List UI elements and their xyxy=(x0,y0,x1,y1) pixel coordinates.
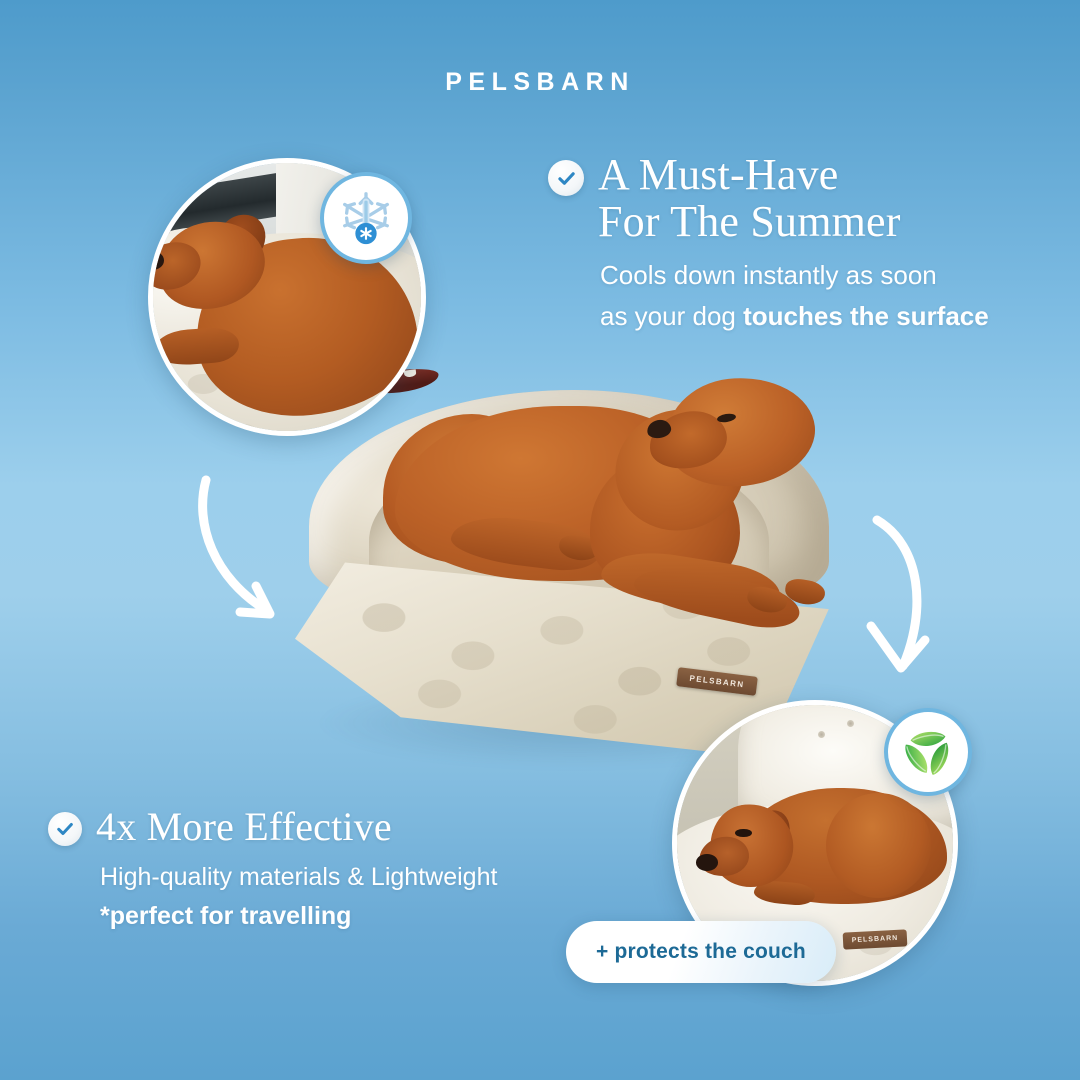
arrow-down-left-icon xyxy=(855,500,985,690)
protects-couch-badge: + protects the couch xyxy=(566,921,836,983)
feature-subtext-effective: High-quality materials & Lightweight *pe… xyxy=(100,858,648,936)
check-circle-icon xyxy=(48,812,82,846)
dog-illustration-main xyxy=(365,370,835,670)
ad-canvas: PELSBARN xyxy=(0,0,1080,1080)
feature-subtext-line-2: as your dog touches the surface xyxy=(600,296,1048,336)
feature-heading-row: A Must-Have For The Summer xyxy=(548,152,1048,245)
feature-subtext-bold: touches the surface xyxy=(743,301,989,331)
feature-title-line-2: For The Summer xyxy=(598,199,901,246)
feature-title-line-1: A Must-Have xyxy=(598,152,901,199)
eco-leaves-icon xyxy=(884,708,972,796)
feature-subtext-line-2: *perfect for travelling xyxy=(100,897,648,936)
feature-title-effective: 4x More Effective xyxy=(96,806,392,848)
dog-resting-haunch xyxy=(826,793,931,898)
feature-subtext-line-1: High-quality materials & Lightweight xyxy=(100,858,648,897)
feature-subtext-cooling: Cools down instantly as soon as your dog… xyxy=(600,255,1048,336)
couch-tuft xyxy=(847,720,854,727)
feature-title-line-1: 4x More Effective xyxy=(96,806,392,848)
check-circle-icon xyxy=(548,160,584,196)
feature-block-cooling: A Must-Have For The Summer Cools down in… xyxy=(548,152,1048,336)
dog-resting-nose xyxy=(696,854,718,871)
feature-block-effective: 4x More Effective High-quality materials… xyxy=(48,806,648,936)
brand-logo-text: PELSBARN xyxy=(0,68,1080,97)
feature-subtext-bold: *perfect for travelling xyxy=(100,902,351,930)
feature-subtext-line-1: Cools down instantly as soon xyxy=(600,255,1048,295)
feature-heading-row: 4x More Effective xyxy=(48,806,648,848)
arrow-down-right-icon xyxy=(180,462,310,642)
snowflake-thermometer-icon xyxy=(320,172,412,264)
feature-subtext-normal: as your dog xyxy=(600,301,743,331)
feature-title-cooling: A Must-Have For The Summer xyxy=(598,152,901,245)
couch-tuft xyxy=(818,731,825,738)
